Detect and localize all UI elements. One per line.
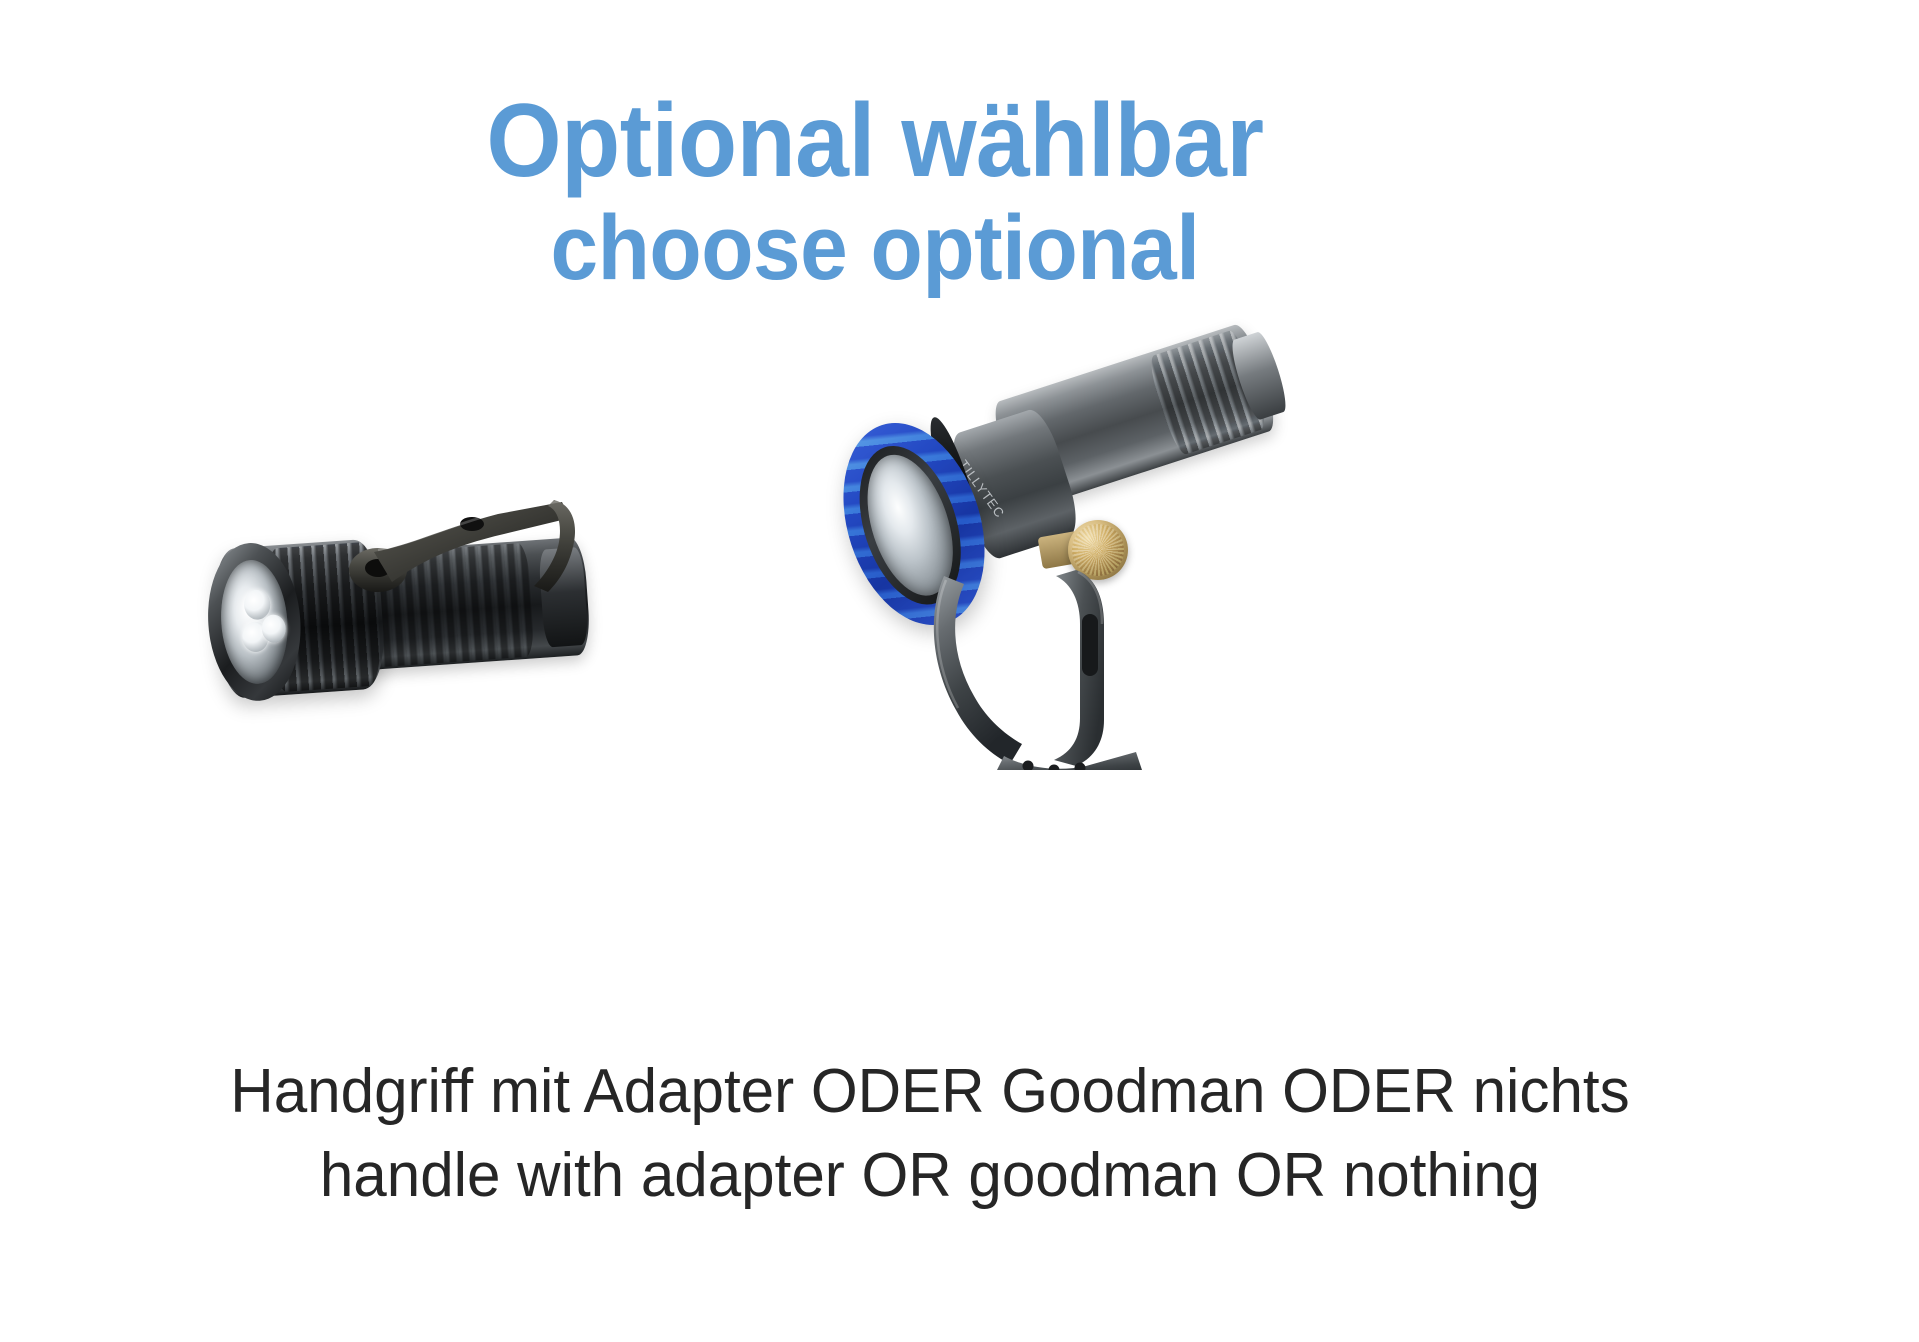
torch-reflector-lens [217, 558, 291, 686]
handle-bow-icon [348, 494, 578, 610]
torch-assembly-left [210, 490, 640, 720]
caption-line-german: Handgriff mit Adapter ODER Goodman ODER … [28, 1050, 1832, 1134]
goodman-handle-bracket [926, 570, 1176, 770]
title-line-german: Optional wählbar [61, 86, 1689, 196]
product-image-row: TILLYTEC [0, 380, 1919, 850]
page-title: Optional wählbar choose optional [0, 86, 1750, 298]
title-line-english: choose optional [61, 200, 1689, 298]
slide-canvas: Optional wählbar choose optional [0, 0, 1919, 1342]
product-image-handle-adapter-torch [210, 380, 660, 820]
caption-line-english: handle with adapter OR goodman OR nothin… [28, 1134, 1832, 1218]
torch-assembly-right: TILLYTEC [830, 380, 1300, 850]
handle-bow-bracket [348, 494, 578, 610]
caption: Handgriff mit Adapter ODER Goodman ODER … [0, 1050, 1860, 1217]
goodman-bracket-icon [926, 570, 1176, 770]
product-image-goodman-handle-light: TILLYTEC [830, 380, 1300, 850]
thumb-screw-knurling [1072, 524, 1124, 576]
